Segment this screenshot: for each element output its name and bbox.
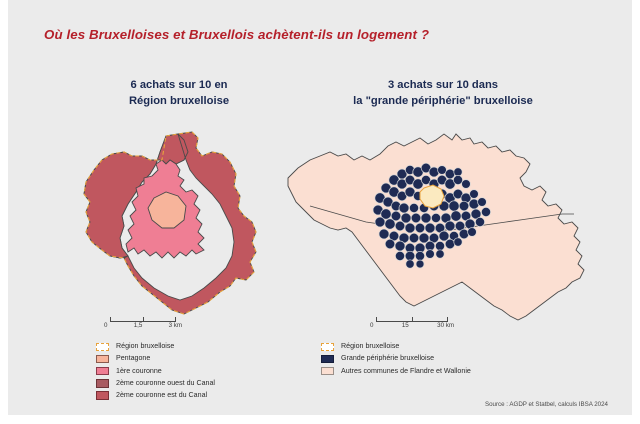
infographic-page: Où les Bruxelloises et Bruxellois achète… bbox=[0, 0, 640, 424]
scalebar-label-min: 0 bbox=[104, 322, 107, 329]
panel-subtitle-brussels-region: 6 achats sur 10 en Région bruxelloise bbox=[66, 77, 292, 109]
legend-item: 2ème couronne ouest du Canal bbox=[96, 378, 215, 390]
legend-item: Région bruxelloise bbox=[96, 341, 215, 353]
scalebar-label-mid: 1,5 bbox=[134, 322, 143, 329]
scalebar-label-max: 30 km bbox=[437, 322, 454, 329]
legend-label: Région bruxelloise bbox=[116, 342, 174, 351]
legend-item: 2ème couronne est du Canal bbox=[96, 390, 215, 402]
scalebar-belgium: 0 15 30 km bbox=[370, 316, 454, 332]
subtitle-line-1: 3 achats sur 10 dans bbox=[298, 77, 588, 93]
map-brussels-region bbox=[80, 130, 280, 330]
subtitle-line-2: la "grande périphérie" bruxelloise bbox=[298, 93, 588, 109]
legend-item: Région bruxelloise bbox=[321, 341, 471, 353]
scalebar-labels: 0 1,5 3 km bbox=[104, 322, 182, 329]
legend-label: Pentagone bbox=[116, 354, 150, 363]
legend-label: 2ème couronne est du Canal bbox=[116, 391, 207, 400]
legend-swatch-region-bruxelloise bbox=[96, 343, 109, 352]
map-area-region-bruxelloise-hole bbox=[420, 185, 444, 208]
legend-label: 1ère couronne bbox=[116, 367, 162, 376]
legend-item: Autres communes de Flandre et Wallonie bbox=[321, 365, 471, 377]
legend-label: 2ème couronne ouest du Canal bbox=[116, 379, 215, 388]
legend-swatch-grande-peripherie bbox=[321, 355, 334, 364]
scalebar-label-max: 3 km bbox=[169, 322, 182, 329]
scalebar-label-mid: 15 bbox=[402, 322, 409, 329]
legend-swatch-1ere-couronne bbox=[96, 367, 109, 376]
legend-label: Grande périphérie bruxelloise bbox=[341, 354, 434, 363]
legend-label: Autres communes de Flandre et Wallonie bbox=[341, 367, 471, 376]
legend-label: Région bruxelloise bbox=[341, 342, 399, 351]
page-title: Où les Bruxelloises et Bruxellois achète… bbox=[44, 27, 584, 42]
infographic-canvas: Où les Bruxelloises et Bruxellois achète… bbox=[8, 0, 632, 415]
legend-swatch-autres-communes bbox=[321, 367, 334, 376]
subtitle-line-2: Région bruxelloise bbox=[66, 93, 292, 109]
legend-swatch-region-bruxelloise bbox=[321, 343, 334, 352]
panel-subtitle-grande-peripherie: 3 achats sur 10 dans la "grande périphér… bbox=[298, 77, 588, 109]
legend-item: Pentagone bbox=[96, 353, 215, 365]
legend-swatch-2eme-couronne-est bbox=[96, 391, 109, 400]
legend-swatch-2eme-couronne-ouest bbox=[96, 379, 109, 388]
subtitle-line-1: 6 achats sur 10 en bbox=[66, 77, 292, 93]
map-belgium-grande-peripherie bbox=[284, 128, 592, 332]
scalebar-labels: 0 15 30 km bbox=[370, 322, 454, 329]
legend-item: Grande périphérie bruxelloise bbox=[321, 353, 471, 365]
legend-grande-peripherie: Région bruxelloise Grande périphérie bru… bbox=[321, 341, 471, 378]
source-note: Source : AGDP et Statbel, calculs IBSA 2… bbox=[485, 401, 608, 408]
scalebar-brussels-region: 0 1,5 3 km bbox=[104, 316, 182, 332]
legend-brussels-region: Région bruxelloise Pentagone 1ère couron… bbox=[96, 341, 215, 402]
legend-swatch-pentagone bbox=[96, 355, 109, 364]
legend-item: 1ère couronne bbox=[96, 365, 215, 377]
scalebar-label-min: 0 bbox=[370, 322, 373, 329]
